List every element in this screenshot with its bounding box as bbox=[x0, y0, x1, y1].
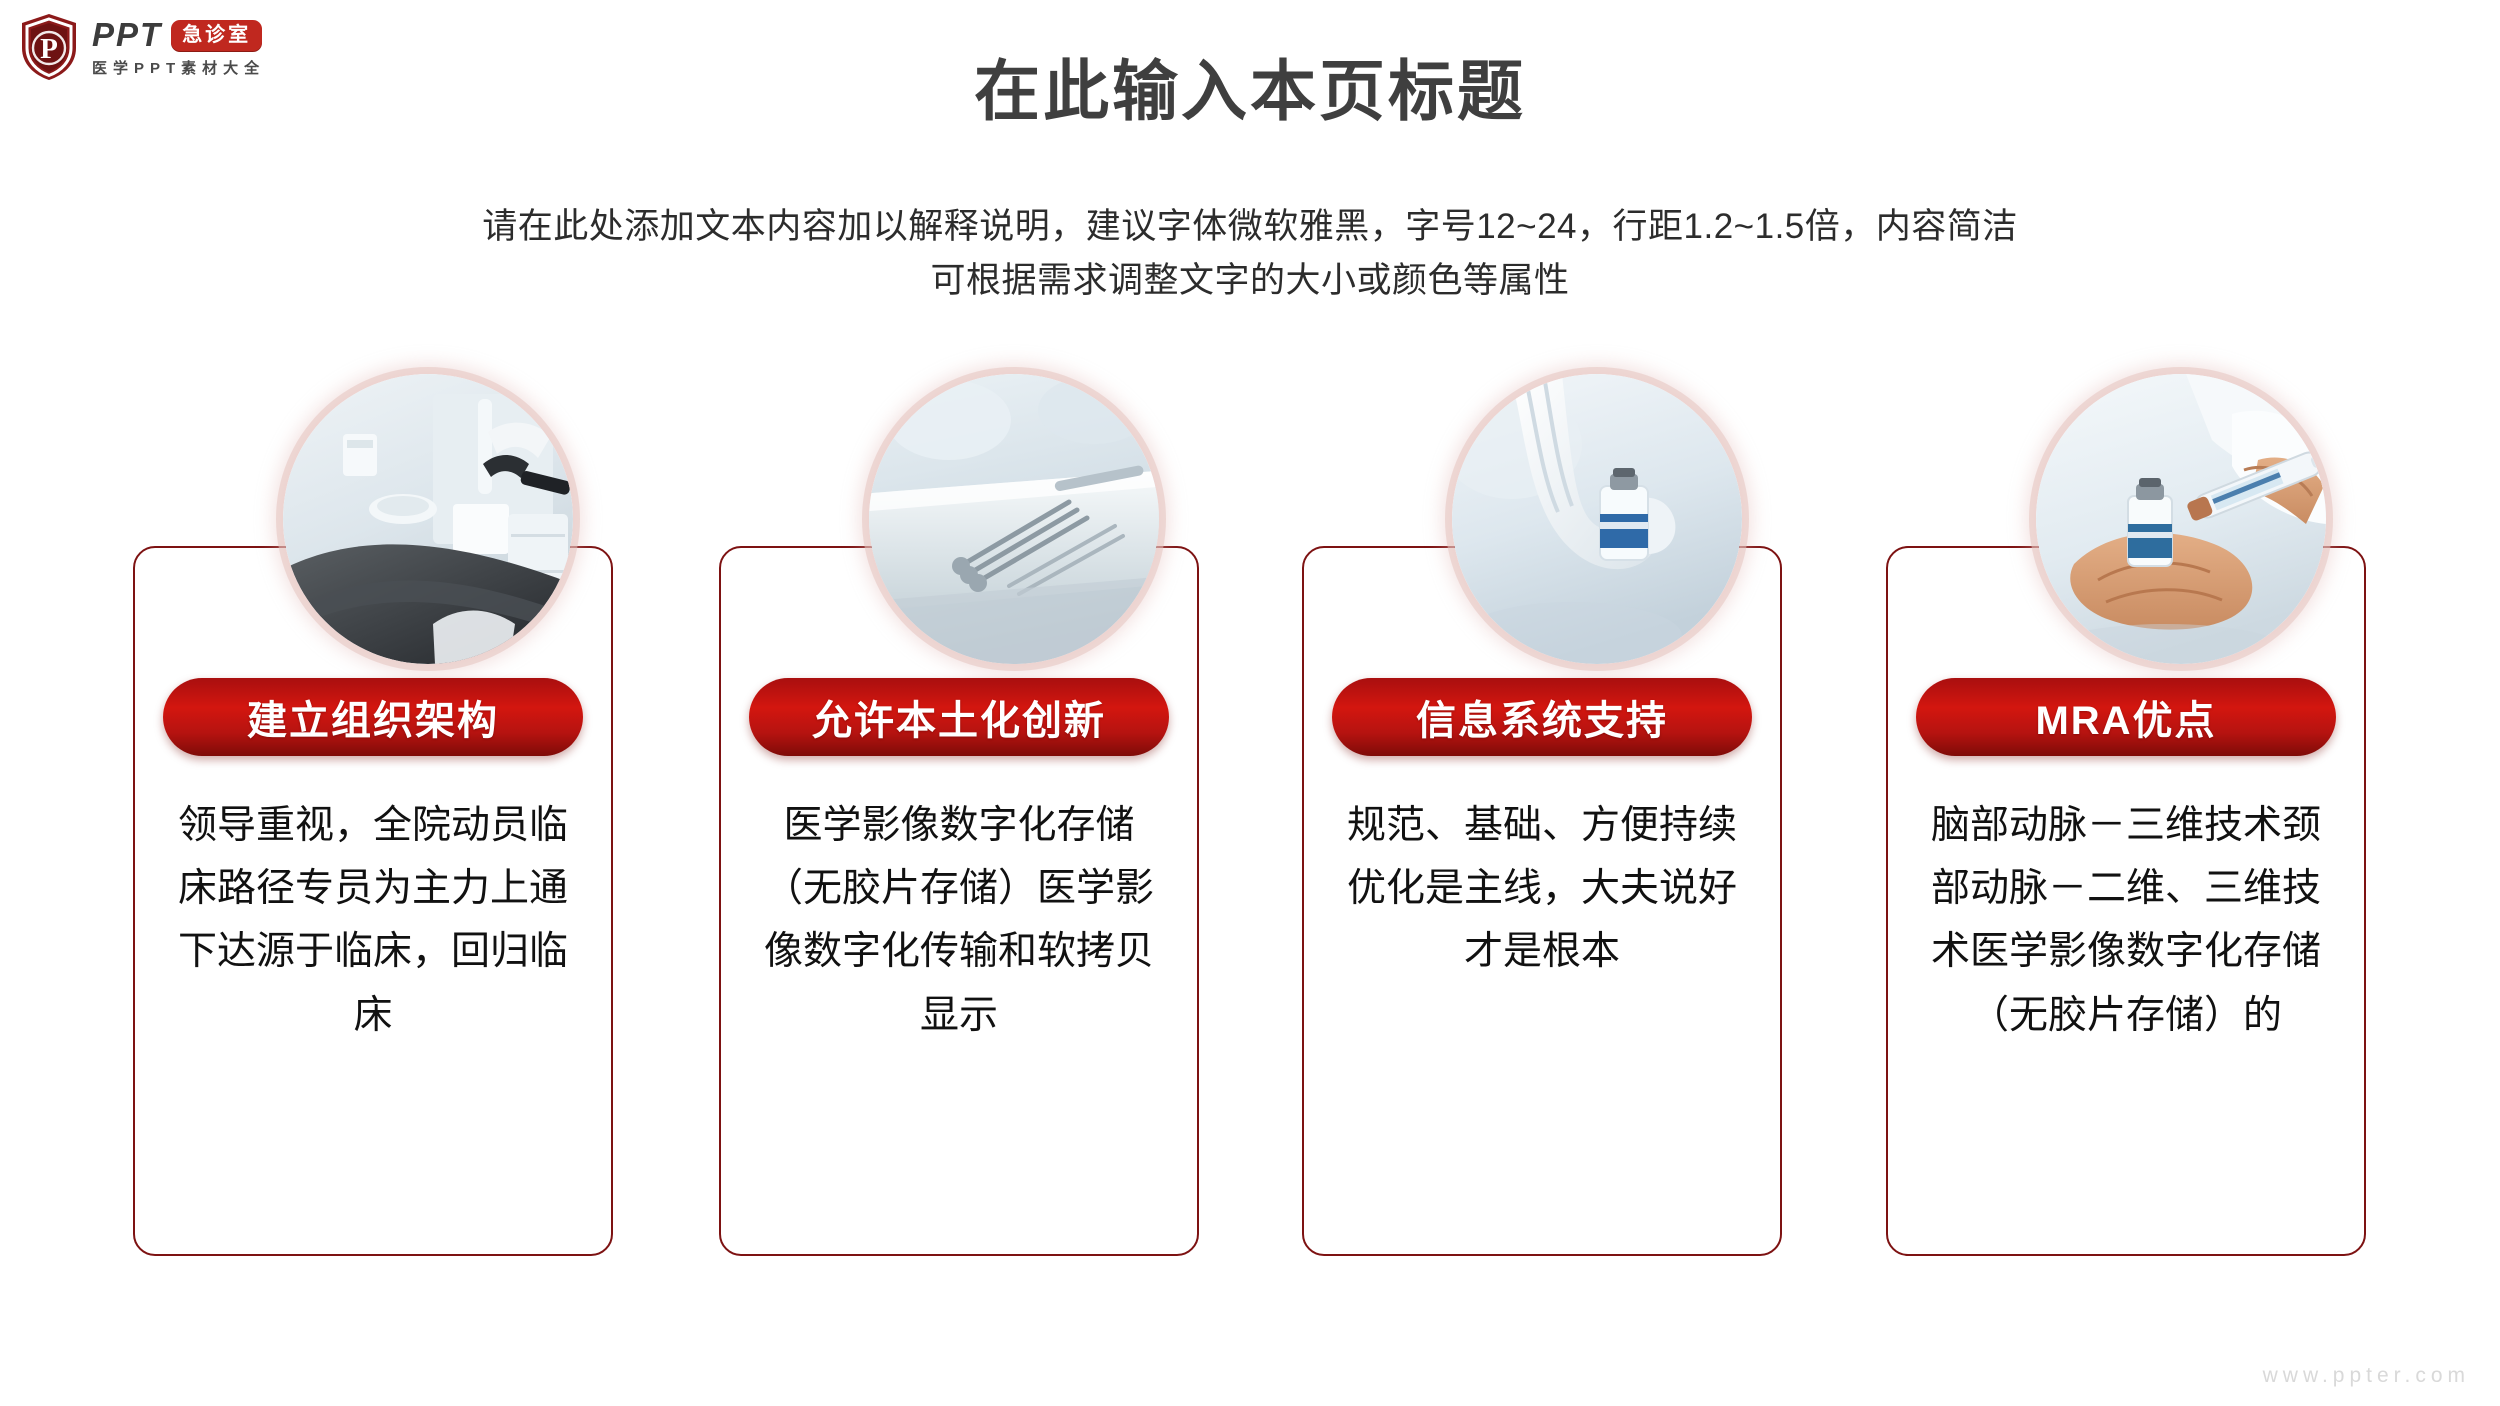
dental-clinic-photo bbox=[283, 374, 573, 664]
card-3-body: 规范、基础、方便持续优化是主线，大夫说好才是根本 bbox=[1338, 794, 1746, 984]
card-2-body: 医学影像数字化存储（无胶片存储）医学影像数字化传输和软拷贝显示 bbox=[755, 794, 1163, 1047]
card-grid: 建立组织架构 领导重视，全院动员临床路径专员为主力上通下达源于临床，回归临床 bbox=[0, 0, 2500, 1406]
card-1[interactable]: 建立组织架构 领导重视，全院动员临床路径专员为主力上通下达源于临床，回归临床 bbox=[133, 546, 613, 1256]
card-4-photo bbox=[2036, 374, 2326, 664]
card-2-badge-label: 允许本土化创新 bbox=[786, 688, 1132, 746]
card-3-photo bbox=[1452, 374, 1742, 664]
card-3-badge: 信息系统支持 bbox=[1332, 678, 1752, 756]
card-2[interactable]: 允许本土化创新 医学影像数字化存储（无胶片存储）医学影像数字化传输和软拷贝显示 bbox=[719, 546, 1199, 1256]
hand-vaccine-syringe-photo bbox=[2036, 374, 2326, 664]
card-1-photo bbox=[283, 374, 573, 664]
card-1-body: 领导重视，全院动员临床路径专员为主力上通下达源于临床，回归临床 bbox=[169, 794, 577, 1047]
card-1-badge-label: 建立组织架构 bbox=[221, 688, 525, 746]
card-2-badge: 允许本土化创新 bbox=[749, 678, 1169, 756]
card-4[interactable]: MRA优点 脑部动脉－三维技术颈部动脉－二维、三维技术医学影像数字化存储（无胶片… bbox=[1886, 546, 2366, 1256]
card-3[interactable]: 信息系统支持 规范、基础、方便持续优化是主线，大夫说好才是根本 bbox=[1302, 546, 1782, 1256]
gloved-hand-vial-photo bbox=[1452, 374, 1742, 664]
card-4-badge: MRA优点 bbox=[1916, 678, 2336, 756]
card-2-photo bbox=[869, 374, 1159, 664]
card-3-badge-label: 信息系统支持 bbox=[1390, 688, 1694, 746]
surgical-instruments-photo bbox=[869, 374, 1159, 664]
card-4-badge-label: MRA优点 bbox=[2009, 688, 2242, 746]
site-watermark: www.ppter.com bbox=[2263, 1364, 2470, 1388]
card-1-badge: 建立组织架构 bbox=[163, 678, 583, 756]
card-4-body: 脑部动脉－三维技术颈部动脉－二维、三维技术医学影像数字化存储（无胶片存储）的 bbox=[1922, 794, 2330, 1047]
